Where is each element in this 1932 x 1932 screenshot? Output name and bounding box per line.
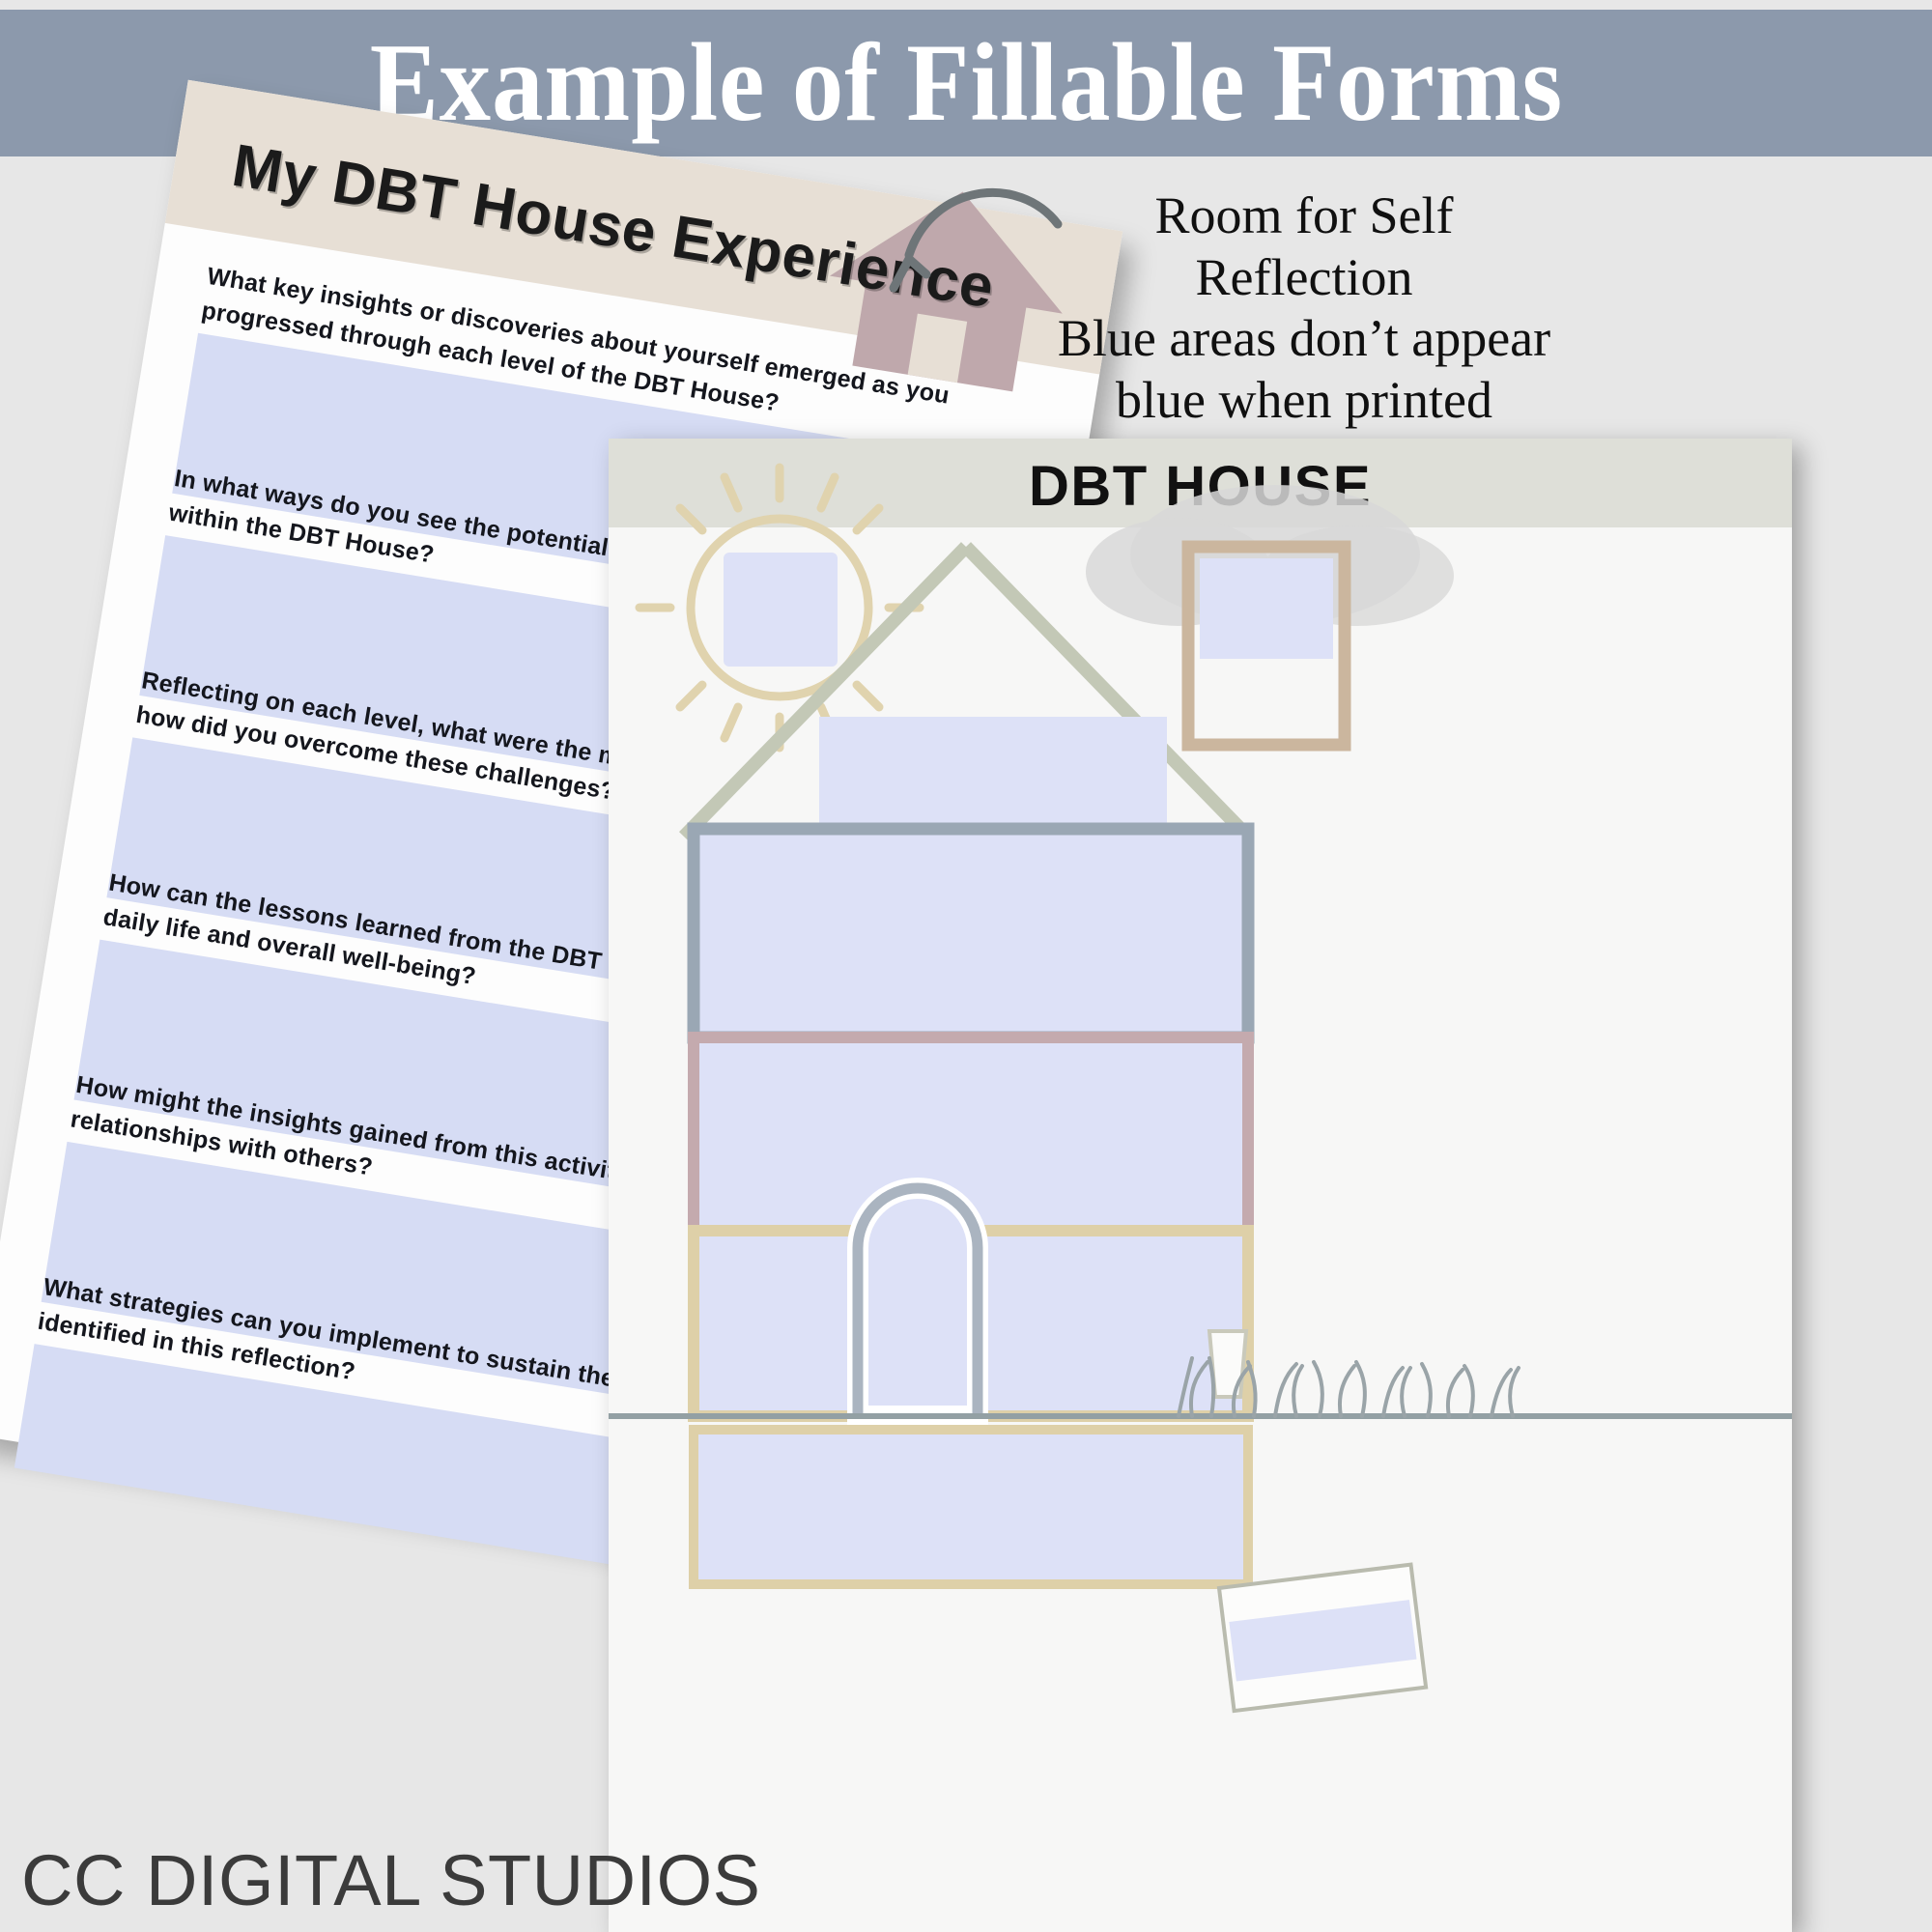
annotation-line-1: Room for Self bbox=[995, 185, 1613, 247]
dbt-house-page: DBT HOUSE bbox=[609, 439, 1792, 1932]
floor-one-field bbox=[694, 829, 1248, 1037]
chimney-fill-field bbox=[1200, 558, 1333, 659]
annotation-line-2: Reflection bbox=[995, 247, 1613, 309]
content-stage: My DBT House Experience What key insight… bbox=[0, 156, 1932, 1932]
foundation-field bbox=[694, 1430, 1248, 1584]
annotation-line-3: Blue areas don’t appear bbox=[995, 308, 1613, 370]
dbt-house-illustration bbox=[609, 439, 1792, 1932]
door-shape bbox=[858, 1188, 978, 1416]
studio-watermark: CC DIGITAL STUDIOS bbox=[21, 1839, 761, 1921]
annotation-callout: Room for Self Reflection Blue areas don’… bbox=[995, 185, 1613, 432]
annotation-line-4: blue when printed bbox=[995, 370, 1613, 432]
sun-fill-field bbox=[724, 553, 838, 667]
attic-fill-field bbox=[819, 717, 1167, 829]
page-title: Example of Fillable Forms bbox=[369, 27, 1562, 139]
